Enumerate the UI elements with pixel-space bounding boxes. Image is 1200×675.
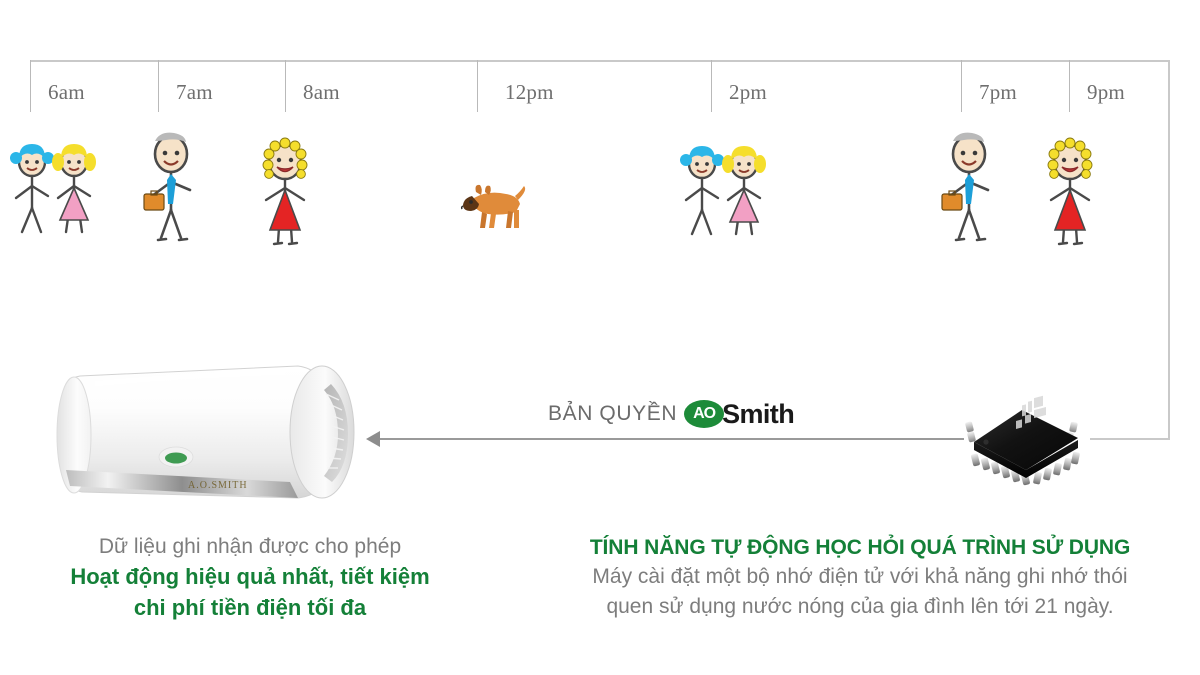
water-heater-illustration: A.O.SMITH bbox=[40, 358, 360, 508]
timeline-tick-8am bbox=[285, 60, 286, 112]
caption-right-title: TÍNH NĂNG TỰ ĐỘNG HỌC HỎI QUÁ TRÌNH SỬ D… bbox=[520, 533, 1200, 562]
timeline-label-7pm: 7pm bbox=[979, 80, 1017, 105]
microchip-illustration bbox=[960, 392, 1090, 492]
kids-pair-noon-icon bbox=[678, 140, 770, 245]
caption-right-line2: quen sử dụng nước nóng của gia đình lên … bbox=[520, 592, 1200, 622]
brand-prefix-label: BẢN QUYỀN bbox=[548, 402, 677, 426]
woman-evening-icon bbox=[1040, 136, 1100, 253]
caption-left-line2: Hoạt động hiệu quả nhất, tiết kiệm bbox=[0, 561, 500, 592]
ao-logo-mark: AO bbox=[684, 400, 724, 428]
timeline-tick-2pm bbox=[711, 60, 712, 112]
water-heater: A.O.SMITH bbox=[40, 358, 360, 508]
caption-right-line1: Máy cài đặt một bộ nhớ điện tử với khả n… bbox=[520, 562, 1200, 592]
kids-pair-morning-icon bbox=[8, 138, 100, 243]
timeline-tick-12pm bbox=[477, 60, 478, 112]
timeline-label-7am: 7am bbox=[176, 80, 213, 105]
timeline-tick-7pm bbox=[961, 60, 962, 112]
caption-left-line1: Dữ liệu ghi nhận được cho phép bbox=[0, 533, 500, 561]
timeline-tick-7am bbox=[158, 60, 159, 112]
timeline-label-9pm: 9pm bbox=[1087, 80, 1125, 105]
caption-left: Dữ liệu ghi nhận được cho phép Hoạt động… bbox=[0, 533, 500, 623]
flow-arrow-line bbox=[378, 438, 964, 440]
man-evening-icon bbox=[938, 128, 1000, 251]
timeline-label-12pm: 12pm bbox=[505, 80, 554, 105]
timeline-tick-9pm bbox=[1069, 60, 1070, 112]
man-morning-icon bbox=[140, 128, 202, 251]
timeline-label-8am: 8am bbox=[303, 80, 340, 105]
ao-smith-logo: AO Smith bbox=[684, 399, 794, 430]
svg-text:A.O.SMITH: A.O.SMITH bbox=[188, 480, 248, 491]
microchip bbox=[960, 392, 1090, 492]
brand-line: BẢN QUYỀN AO Smith bbox=[548, 398, 794, 430]
infographic-canvas: 6am7am8am12pm2pm7pm9pm bbox=[0, 0, 1200, 675]
caption-left-line3: chi phí tiền điện tối đa bbox=[0, 592, 500, 623]
timeline-axis bbox=[30, 60, 1170, 62]
timeline-label-2pm: 2pm bbox=[729, 80, 767, 105]
flow-arrow-head bbox=[366, 431, 380, 447]
dog-noon-icon bbox=[458, 178, 530, 235]
woman-morning-icon bbox=[255, 136, 315, 253]
timeline-tick-6am bbox=[30, 60, 31, 112]
connector-vertical bbox=[1168, 60, 1170, 440]
connector-horizontal bbox=[1090, 438, 1170, 440]
timeline-label-6am: 6am bbox=[48, 80, 85, 105]
caption-right: TÍNH NĂNG TỰ ĐỘNG HỌC HỎI QUÁ TRÌNH SỬ D… bbox=[520, 533, 1200, 622]
ao-logo-wordmark: Smith bbox=[722, 399, 794, 430]
